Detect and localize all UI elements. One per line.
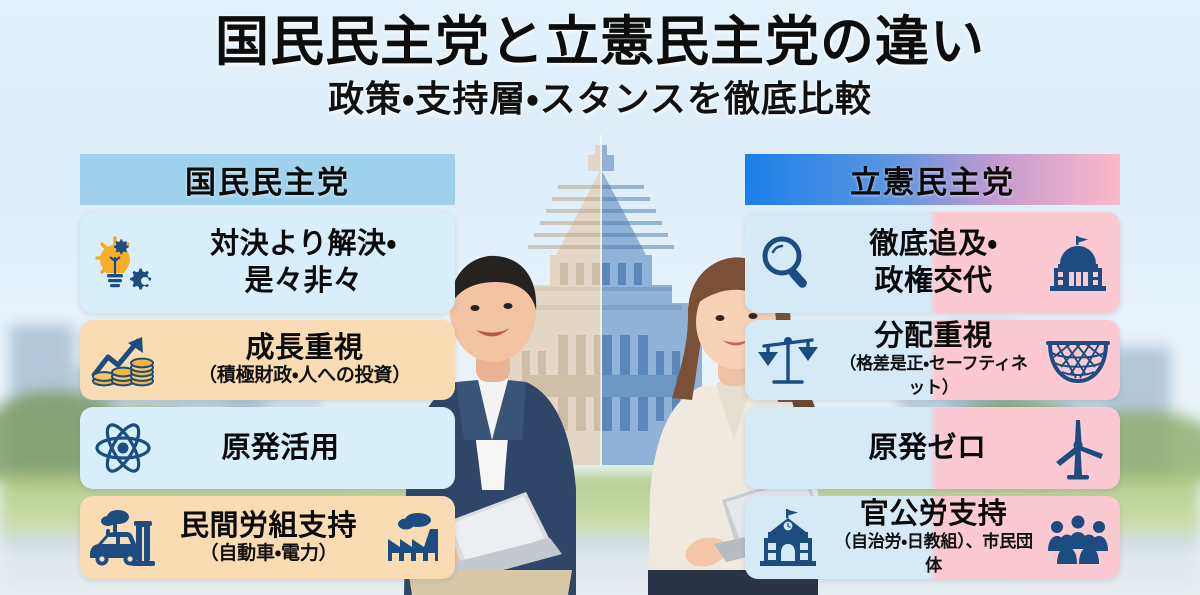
balance-scale-icon <box>745 332 831 388</box>
title-block: 国民民主党と立憲民主党の違い 政策・支持層・スタンスを徹底比較 <box>0 10 1200 122</box>
right-card-1-title: 徹底追及・ <box>833 226 1034 263</box>
right-card-4-text: 官公労支持 （自治労・日教組）、市民団体 <box>831 498 1036 578</box>
left-card-2-subtitle: （積極財政・人への投資） <box>168 364 441 388</box>
right-card-2[interactable]: 分配重視 （格差是正・セーフティネット） <box>745 320 1120 400</box>
left-card-1-text: 対決より解決・ 是々非々 <box>166 226 441 300</box>
capitol-building-icon <box>1036 234 1120 292</box>
left-card-1-title-line2: 是々非々 <box>168 263 439 300</box>
right-column-header: 立憲民主党 <box>745 154 1120 205</box>
car-powerplant-icon <box>80 507 166 569</box>
right-card-2-text: 分配重視 （格差是正・セーフティネット） <box>831 320 1036 400</box>
growth-chart-coins-icon <box>80 331 166 389</box>
left-card-3[interactable]: 原発活用 <box>80 407 455 489</box>
magnifier-icon <box>745 232 831 294</box>
right-party-column: 立憲民主党 徹底追及・ 政権交代 <box>745 154 1120 579</box>
factory-icon <box>371 509 455 567</box>
right-card-3-text: 原発ゼロ <box>819 432 1036 465</box>
left-card-2-text: 成長重視 （積極財政・人への投資） <box>166 332 443 388</box>
page-subtitle: 政策・支持層・スタンスを徹底比較 <box>0 76 1200 122</box>
left-card-3-title: 原発活用 <box>168 432 393 465</box>
left-card-4-text: 民間労組支持 （自動車・電力） <box>166 510 371 566</box>
left-card-4-title: 民間労組支持 <box>168 510 369 543</box>
right-card-4-title: 官公労支持 <box>833 498 1034 531</box>
right-card-4[interactable]: 官公労支持 （自治労・日教組）、市民団体 <box>745 496 1120 579</box>
school-building-icon <box>745 508 831 568</box>
left-column-header: 国民民主党 <box>80 154 455 205</box>
left-card-2-title: 成長重視 <box>168 332 441 365</box>
infographic-canvas: 国民民主党と立憲民主党の違い 政策・支持層・スタンスを徹底比較 国民民主党 <box>0 0 1200 595</box>
left-card-1-title: 対決より解決・ <box>168 226 439 263</box>
people-group-icon <box>1036 511 1120 565</box>
right-card-3-title: 原発ゼロ <box>821 432 1034 465</box>
wind-turbine-icon <box>1036 416 1120 480</box>
atom-icon <box>80 419 166 477</box>
left-card-list: 対決より解決・ 是々非々 <box>80 212 455 579</box>
safety-net-icon <box>1036 335 1120 385</box>
left-card-4-subtitle: （自動車・電力） <box>168 542 369 566</box>
right-card-3[interactable]: 原発ゼロ <box>745 407 1120 489</box>
left-card-4[interactable]: 民間労組支持 （自動車・電力） <box>80 496 455 579</box>
left-card-2[interactable]: 成長重視 （積極財政・人への投資） <box>80 320 455 400</box>
left-card-3-text: 原発活用 <box>166 432 395 465</box>
page-title: 国民民主党と立憲民主党の違い <box>0 10 1200 74</box>
right-card-1-title-line2: 政権交代 <box>833 263 1034 300</box>
left-card-1[interactable]: 対決より解決・ 是々非々 <box>80 212 455 313</box>
right-card-4-subtitle: （自治労・日教組）、市民団体 <box>833 530 1034 578</box>
left-party-column: 国民民主党 <box>80 154 455 579</box>
right-card-1-text: 徹底追及・ 政権交代 <box>831 226 1036 300</box>
lightbulb-gear-icon <box>80 231 166 295</box>
right-card-1[interactable]: 徹底追及・ 政権交代 <box>745 212 1120 313</box>
right-card-list: 徹底追及・ 政権交代 <box>745 212 1120 579</box>
right-card-2-subtitle: （格差是正・セーフティネット） <box>833 352 1034 400</box>
right-card-2-title: 分配重視 <box>833 320 1034 353</box>
